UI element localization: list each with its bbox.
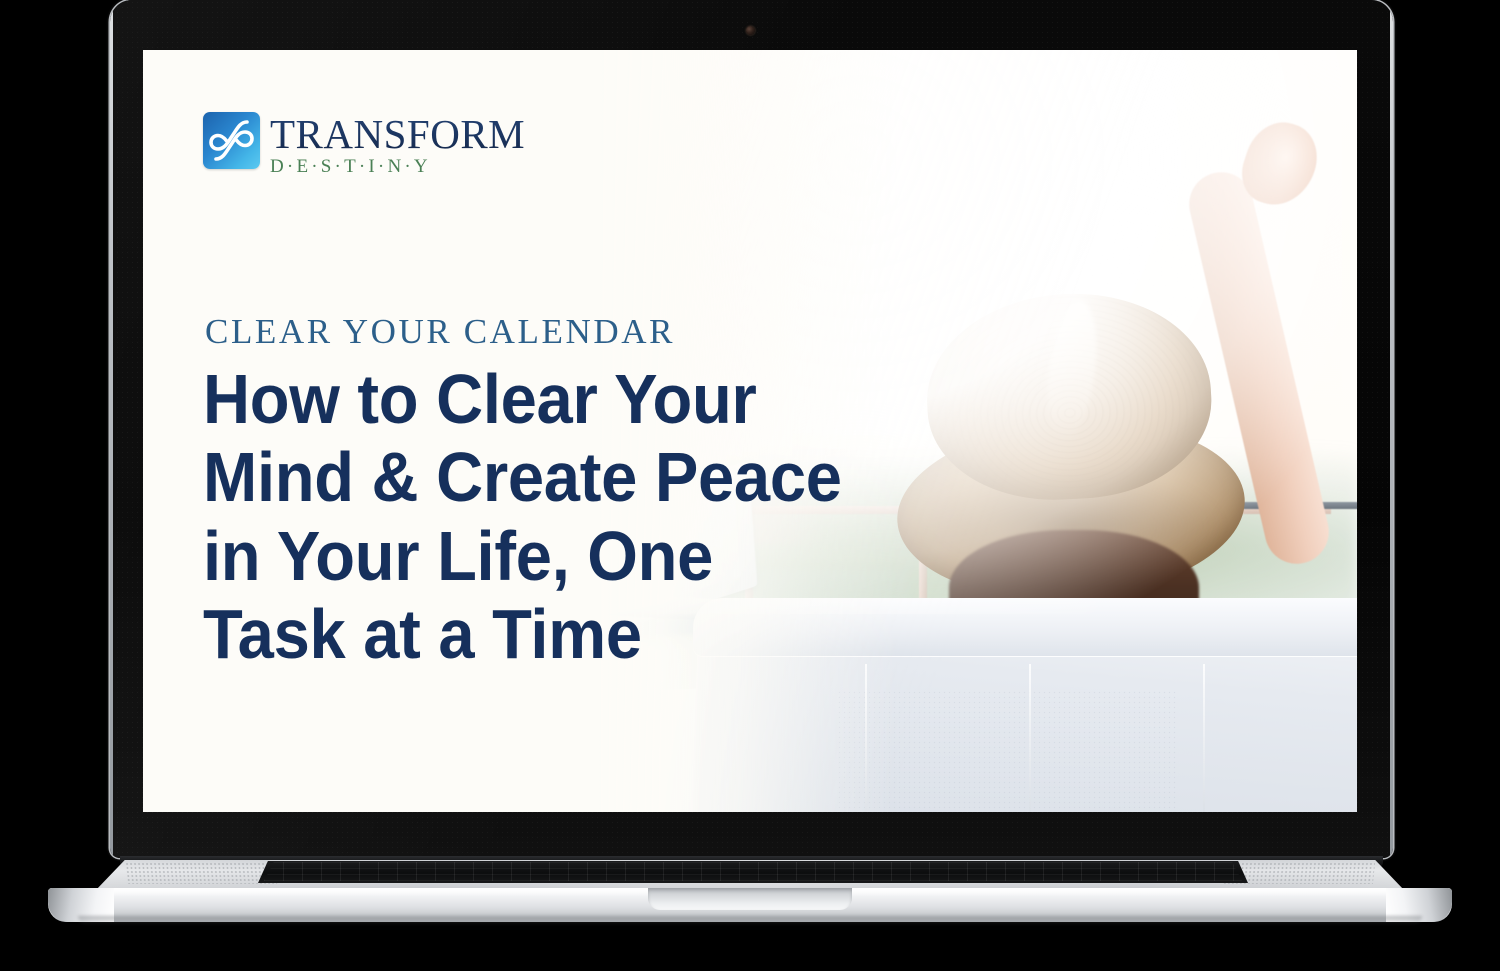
lid-left-highlight <box>110 0 113 858</box>
finger-notch <box>648 888 852 910</box>
laptop-screen[interactable]: TRANSFORM D·E·S·T·I·N·Y CLEAR YOUR CALEN… <box>143 50 1357 812</box>
screenshot-stage: TRANSFORM D·E·S·T·I·N·Y CLEAR YOUR CALEN… <box>0 0 1500 971</box>
lid-right-highlight <box>1390 0 1393 858</box>
brand-primary-word: TRANSFORM <box>270 115 525 154</box>
slide-eyebrow: CLEAR YOUR CALENDAR <box>205 312 675 352</box>
brand-secondary-word: D·E·S·T·I·N·Y <box>270 156 525 178</box>
brand-logo[interactable]: TRANSFORM D·E·S·T·I·N·Y <box>203 112 525 178</box>
headline-line-3: in Your Life, One <box>203 517 882 595</box>
headline-line-4: Task at a Time <box>203 595 882 673</box>
speaker-grille-left <box>125 862 277 884</box>
slide-headline: How to Clear Your Mind & Create Peace in… <box>203 360 882 674</box>
laptop-base <box>48 860 1452 922</box>
brand-wordmark: TRANSFORM D·E·S·T·I·N·Y <box>270 112 525 178</box>
webcam-dot-icon <box>746 26 755 35</box>
slide-content: TRANSFORM D·E·S·T·I·N·Y CLEAR YOUR CALEN… <box>143 50 1357 812</box>
headline-line-1: How to Clear Your <box>203 360 882 438</box>
base-bottom-shadow <box>78 916 1422 924</box>
infinity-ribbon-icon <box>203 112 260 169</box>
keyboard-keys[interactable] <box>264 862 1242 881</box>
headline-line-2: Mind & Create Peace <box>203 438 882 516</box>
laptop-lid: TRANSFORM D·E·S·T·I·N·Y CLEAR YOUR CALEN… <box>110 0 1393 858</box>
